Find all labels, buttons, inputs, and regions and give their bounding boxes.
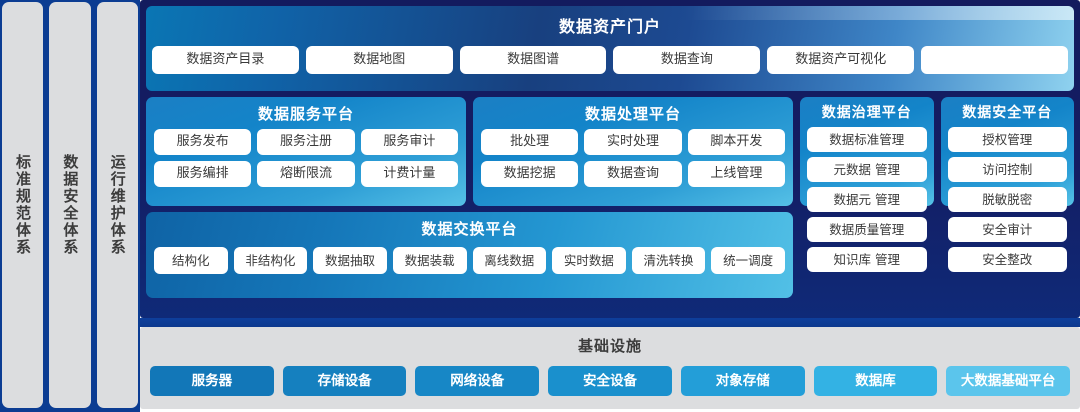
process-item-realtime[interactable]: 实时处理 [584,129,681,155]
governance-item-data-standard[interactable]: 数据标准管理 [807,127,927,152]
process-item-batch[interactable]: 批处理 [481,129,578,155]
service-item-orchestrate[interactable]: 服务编排 [154,161,251,187]
sidebar-item-standards[interactable]: 标准规范体系 [2,2,43,408]
architecture-diagram: 标准规范体系 数据安全体系 运行维护体系 数据资产门户 数据资产目录 数据地图 … [0,0,1080,412]
sidebar-item-label: 数据安全体系 [61,154,80,256]
card-title: 数据处理平台 [481,102,785,126]
card-item-grid: 服务发布 服务注册 服务审计 服务编排 熔断限流 计费计量 [154,129,458,187]
infra-button-server[interactable]: 服务器 [150,366,274,396]
portal-button-map[interactable]: 数据地图 [306,46,453,74]
governance-item-metadata[interactable]: 元数据 管理 [807,157,927,182]
infra-button-security-device[interactable]: 安全设备 [548,366,672,396]
sidebar-item-operations[interactable]: 运行维护体系 [97,2,138,408]
infra-button-network[interactable]: 网络设备 [415,366,539,396]
data-governance-platform-card: 数据治理平台 数据标准管理 元数据 管理 数据元 管理 数据质量管理 知识库 管… [800,97,934,206]
portal-button-row: 数据资产目录 数据地图 数据图谱 数据查询 数据资产可视化 [152,46,1068,74]
process-item-query[interactable]: 数据查询 [584,161,681,187]
card-item-grid: 批处理 实时处理 脚本开发 数据挖据 数据查询 上线管理 [481,129,785,187]
infra-button-object-storage[interactable]: 对象存储 [681,366,805,396]
process-item-mining[interactable]: 数据挖据 [481,161,578,187]
security-item-authorization[interactable]: 授权管理 [948,127,1068,152]
service-item-circuit-breaker[interactable]: 熔断限流 [257,161,354,187]
sidebar-item-security[interactable]: 数据安全体系 [49,2,90,408]
exchange-item-unstructured[interactable]: 非结构化 [234,247,308,274]
card-title: 数据交换平台 [154,217,785,241]
infrastructure-section: 基础设施 服务器 存储设备 网络设备 安全设备 对象存储 数据库 大数据基础平台 [140,327,1080,409]
portal-title: 数据资产门户 [152,12,1068,42]
main-panel: 数据资产门户 数据资产目录 数据地图 数据图谱 数据查询 数据资产可视化 数据服… [140,0,1080,318]
exchange-item-unified-schedule[interactable]: 统一调度 [711,247,785,274]
sidebar-item-label: 运行维护体系 [108,154,127,256]
platform-row: 数据服务平台 服务发布 服务注册 服务审计 服务编排 熔断限流 计费计量 数据处… [146,97,1074,206]
security-item-access-control[interactable]: 访问控制 [948,157,1068,182]
exchange-item-cleanse-transform[interactable]: 清洗转换 [632,247,706,274]
portal-button-graph[interactable]: 数据图谱 [460,46,607,74]
infra-button-bigdata-platform[interactable]: 大数据基础平台 [946,366,1070,396]
process-item-script-dev[interactable]: 脚本开发 [688,129,785,155]
data-processing-platform-card: 数据处理平台 批处理 实时处理 脚本开发 数据挖据 数据查询 上线管理 [473,97,793,206]
portal-button-visualization[interactable]: 数据资产可视化 [767,46,914,74]
exchange-row: 数据交换平台 结构化 非结构化 数据抽取 数据装载 离线数据 实时数据 清洗转换… [146,212,1074,298]
exchange-row-spacer [800,212,1074,298]
governance-item-data-element[interactable]: 数据元 管理 [807,187,927,212]
exchange-item-extract[interactable]: 数据抽取 [313,247,387,274]
exchange-item-offline-data[interactable]: 离线数据 [473,247,547,274]
card-title: 数据服务平台 [154,102,458,126]
security-item-desensitization[interactable]: 脱敏脱密 [948,187,1068,212]
service-item-audit[interactable]: 服务审计 [361,129,458,155]
vertical-sidebars: 标准规范体系 数据安全体系 运行维护体系 [0,0,140,412]
exchange-item-realtime-data[interactable]: 实时数据 [552,247,626,274]
service-item-billing[interactable]: 计费计量 [361,161,458,187]
card-title: 数据治理平台 [807,102,927,124]
exchange-item-load[interactable]: 数据装载 [393,247,467,274]
data-asset-portal-section: 数据资产门户 数据资产目录 数据地图 数据图谱 数据查询 数据资产可视化 [146,6,1074,91]
section-divider [140,318,1080,327]
process-item-release-mgmt[interactable]: 上线管理 [688,161,785,187]
card-item-row: 结构化 非结构化 数据抽取 数据装载 离线数据 实时数据 清洗转换 统一调度 [154,247,785,274]
data-security-platform-card: 数据安全平台 授权管理 访问控制 脱敏脱密 安全审计 安全整改 [941,97,1075,206]
data-service-platform-card: 数据服务平台 服务发布 服务注册 服务审计 服务编排 熔断限流 计费计量 [146,97,466,206]
portal-button-empty[interactable] [921,46,1068,74]
infra-button-storage[interactable]: 存储设备 [283,366,407,396]
card-title: 数据安全平台 [948,102,1068,124]
service-item-publish[interactable]: 服务发布 [154,129,251,155]
infrastructure-button-row: 服务器 存储设备 网络设备 安全设备 对象存储 数据库 大数据基础平台 [150,366,1070,396]
service-item-register[interactable]: 服务注册 [257,129,354,155]
exchange-item-structured[interactable]: 结构化 [154,247,228,274]
infra-button-database[interactable]: 数据库 [814,366,938,396]
data-exchange-platform-card: 数据交换平台 结构化 非结构化 数据抽取 数据装载 离线数据 实时数据 清洗转换… [146,212,793,298]
portal-button-query[interactable]: 数据查询 [613,46,760,74]
portal-button-catalog[interactable]: 数据资产目录 [152,46,299,74]
sidebar-item-label: 标准规范体系 [13,154,32,256]
infrastructure-title: 基础设施 [150,333,1070,359]
